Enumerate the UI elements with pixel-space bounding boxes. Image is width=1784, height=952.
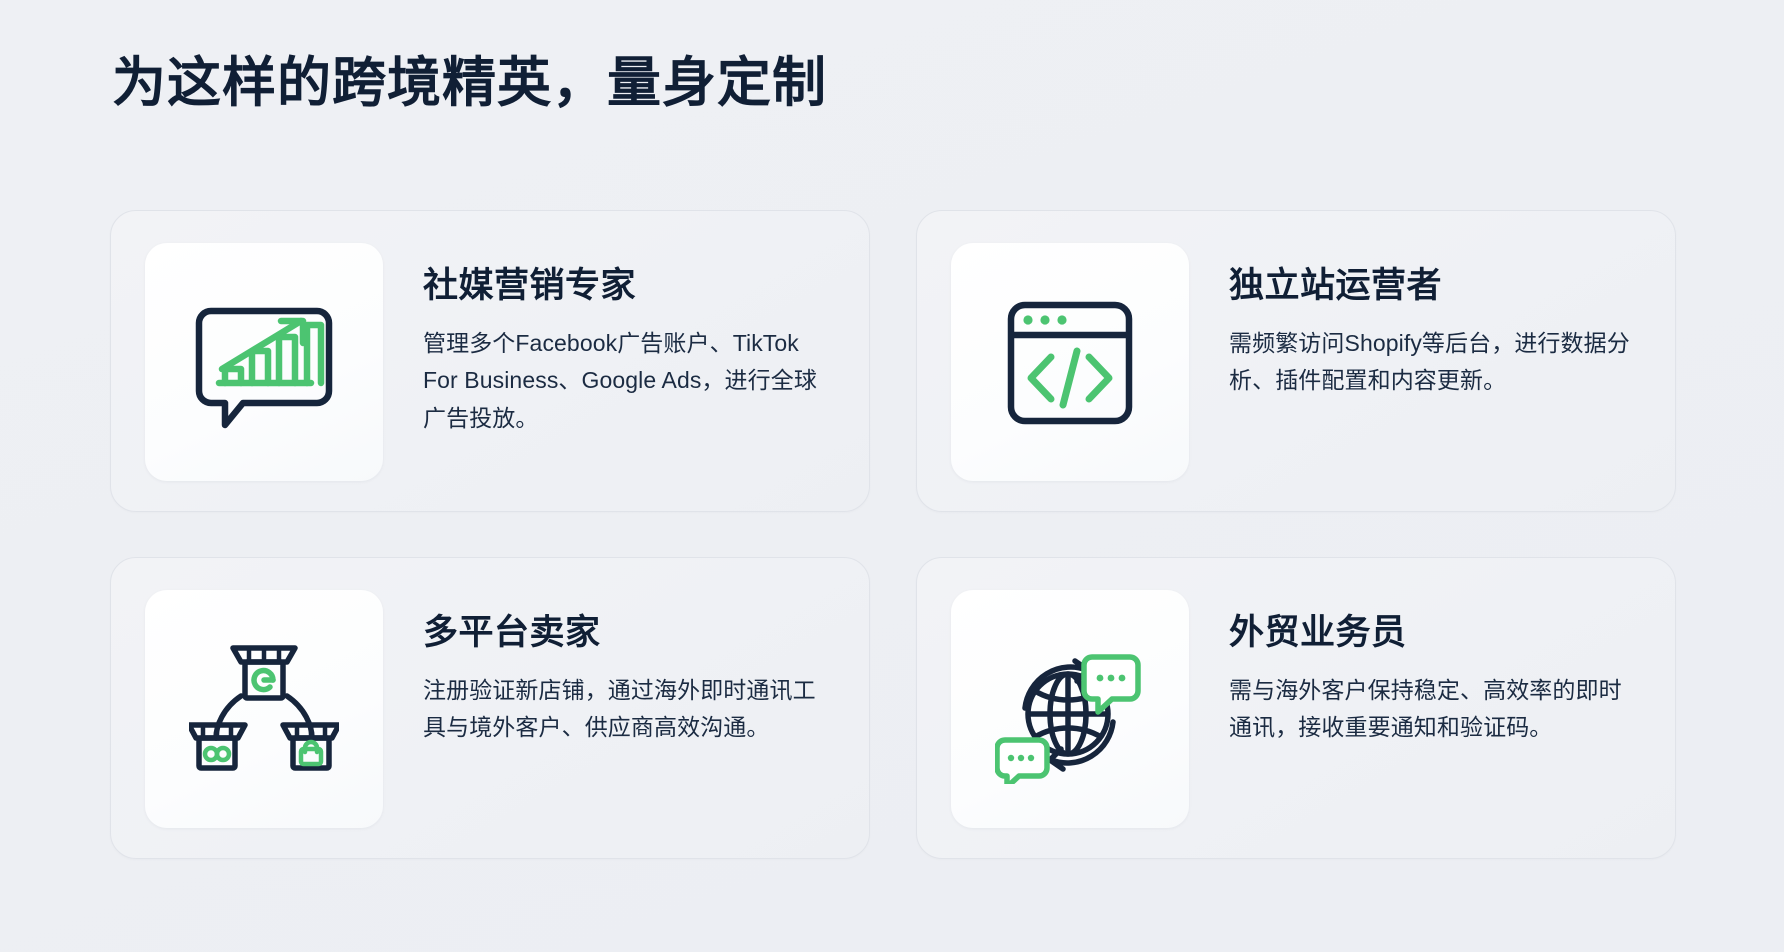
- persona-card-grid: 社媒营销专家 管理多个Facebook广告账户、TikTok For Busin…: [110, 210, 1675, 859]
- card-text-block: 独立站运营者 需频繁访问Shopify等后台，进行数据分析、插件配置和内容更新。: [1189, 243, 1641, 400]
- card-title: 外贸业务员: [1229, 612, 1641, 654]
- icon-tile: [951, 590, 1189, 828]
- card-description: 管理多个Facebook广告账户、TikTok For Business、Goo…: [423, 325, 835, 437]
- card-title: 社媒营销专家: [423, 265, 835, 307]
- page-root: 为这样的跨境精英，量身定制: [0, 0, 1784, 952]
- icon-tile: [145, 590, 383, 828]
- multi-storefront-network-icon: [189, 634, 339, 784]
- browser-code-window-icon: [995, 287, 1145, 437]
- chat-bubble-bar-chart-icon: [189, 287, 339, 437]
- persona-card-social-media-marketer[interactable]: 社媒营销专家 管理多个Facebook广告账户、TikTok For Busin…: [110, 210, 870, 512]
- page-title: 为这样的跨境精英，量身定制: [112, 52, 827, 116]
- icon-tile: [145, 243, 383, 481]
- persona-card-multi-platform-seller[interactable]: 多平台卖家 注册验证新店铺，通过海外即时通讯工具与境外客户、供应商高效沟通。: [110, 557, 870, 859]
- card-description: 注册验证新店铺，通过海外即时通讯工具与境外客户、供应商高效沟通。: [423, 672, 835, 747]
- card-description: 需与海外客户保持稳定、高效率的即时通讯，接收重要通知和验证码。: [1229, 672, 1641, 747]
- icon-tile: [951, 243, 1189, 481]
- card-text-block: 社媒营销专家 管理多个Facebook广告账户、TikTok For Busin…: [383, 243, 835, 437]
- card-text-block: 外贸业务员 需与海外客户保持稳定、高效率的即时通讯，接收重要通知和验证码。: [1189, 590, 1641, 747]
- persona-card-independent-site-operator[interactable]: 独立站运营者 需频繁访问Shopify等后台，进行数据分析、插件配置和内容更新。: [916, 210, 1676, 512]
- card-text-block: 多平台卖家 注册验证新店铺，通过海外即时通讯工具与境外客户、供应商高效沟通。: [383, 590, 835, 747]
- card-title: 多平台卖家: [423, 612, 835, 654]
- persona-card-foreign-trade-salesperson[interactable]: 外贸业务员 需与海外客户保持稳定、高效率的即时通讯，接收重要通知和验证码。: [916, 557, 1676, 859]
- card-title: 独立站运营者: [1229, 265, 1641, 307]
- card-description: 需频繁访问Shopify等后台，进行数据分析、插件配置和内容更新。: [1229, 325, 1641, 400]
- globe-chat-bubbles-icon: [995, 634, 1145, 784]
